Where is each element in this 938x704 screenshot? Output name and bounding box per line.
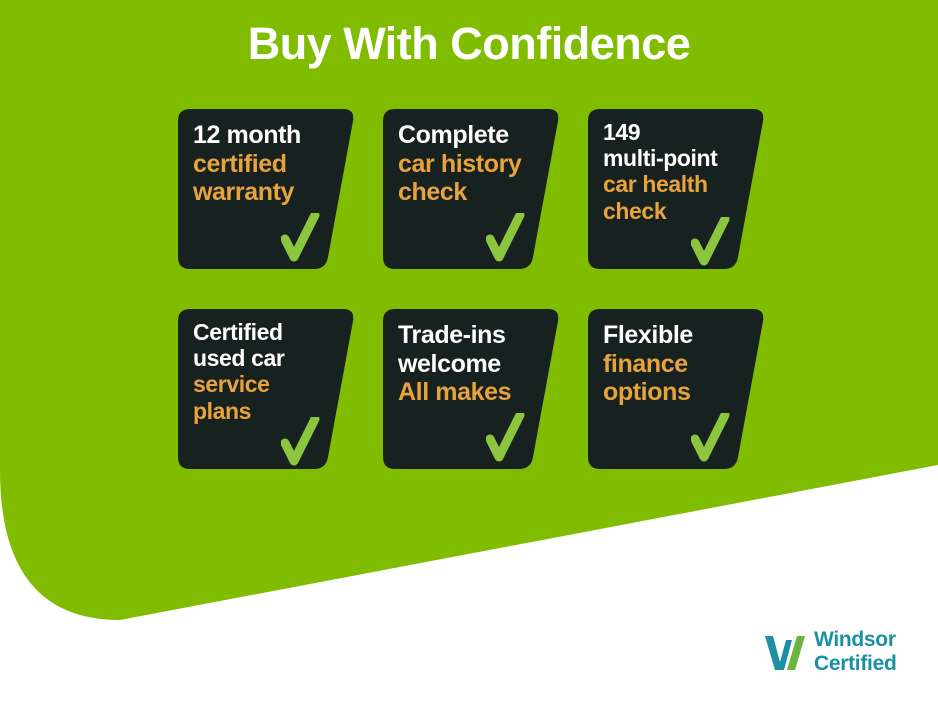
brand-logo-line2: Certified [814, 652, 896, 676]
card-text: Flexiblefinanceoptions [603, 321, 751, 407]
feature-card-certified-warranty[interactable]: 12 monthcertifiedwarranty [178, 109, 356, 269]
check-icon [691, 413, 731, 463]
card-text: Trade-inswelcomeAll makes [398, 321, 546, 407]
card-text-line: check [398, 178, 546, 207]
card-text-line: certified [193, 150, 341, 179]
card-text: 12 monthcertifiedwarranty [193, 121, 341, 207]
card-text-line: warranty [193, 178, 341, 207]
card-text-line: options [603, 378, 751, 407]
card-text-line: All makes [398, 378, 546, 407]
check-icon [691, 217, 731, 267]
card-text-line: 149 [603, 119, 751, 145]
card-text-line: Certified [193, 319, 341, 345]
card-text-line: car history [398, 150, 546, 179]
card-text-line: finance [603, 350, 751, 379]
brand-logo-text: Windsor Certified [814, 628, 896, 675]
feature-card-trade-ins[interactable]: Trade-inswelcomeAll makes [383, 309, 561, 469]
feature-card-finance-options[interactable]: Flexiblefinanceoptions [588, 309, 766, 469]
feature-card-multi-point-health-check[interactable]: 149multi-pointcar healthcheck [588, 109, 766, 269]
poster: Buy With Confidence 12 monthcertifiedwar… [0, 0, 938, 704]
page-title: Buy With Confidence [0, 18, 938, 70]
card-text-line: Flexible [603, 321, 751, 350]
brand-logo-line1: Windsor [814, 628, 896, 652]
feature-card-car-history-check[interactable]: Completecar historycheck [383, 109, 561, 269]
card-text-line: Complete [398, 121, 546, 150]
card-text: 149multi-pointcar healthcheck [603, 119, 751, 224]
card-text-line: multi-point [603, 145, 751, 171]
card-text-line: service [193, 371, 341, 397]
check-icon [281, 213, 321, 263]
card-text-line: welcome [398, 350, 546, 379]
check-icon [486, 213, 526, 263]
card-text-line: 12 month [193, 121, 341, 150]
card-text-line: Trade-ins [398, 321, 546, 350]
feature-card-service-plans[interactable]: Certifiedused carserviceplans [178, 309, 356, 469]
card-text-line: car health [603, 171, 751, 197]
check-icon [281, 417, 321, 467]
check-icon [486, 413, 526, 463]
windsor-w-icon [762, 630, 808, 674]
brand-logo: Windsor Certified [762, 628, 928, 680]
card-text-line: used car [193, 345, 341, 371]
card-text: Certifiedused carserviceplans [193, 319, 341, 424]
card-text: Completecar historycheck [398, 121, 546, 207]
